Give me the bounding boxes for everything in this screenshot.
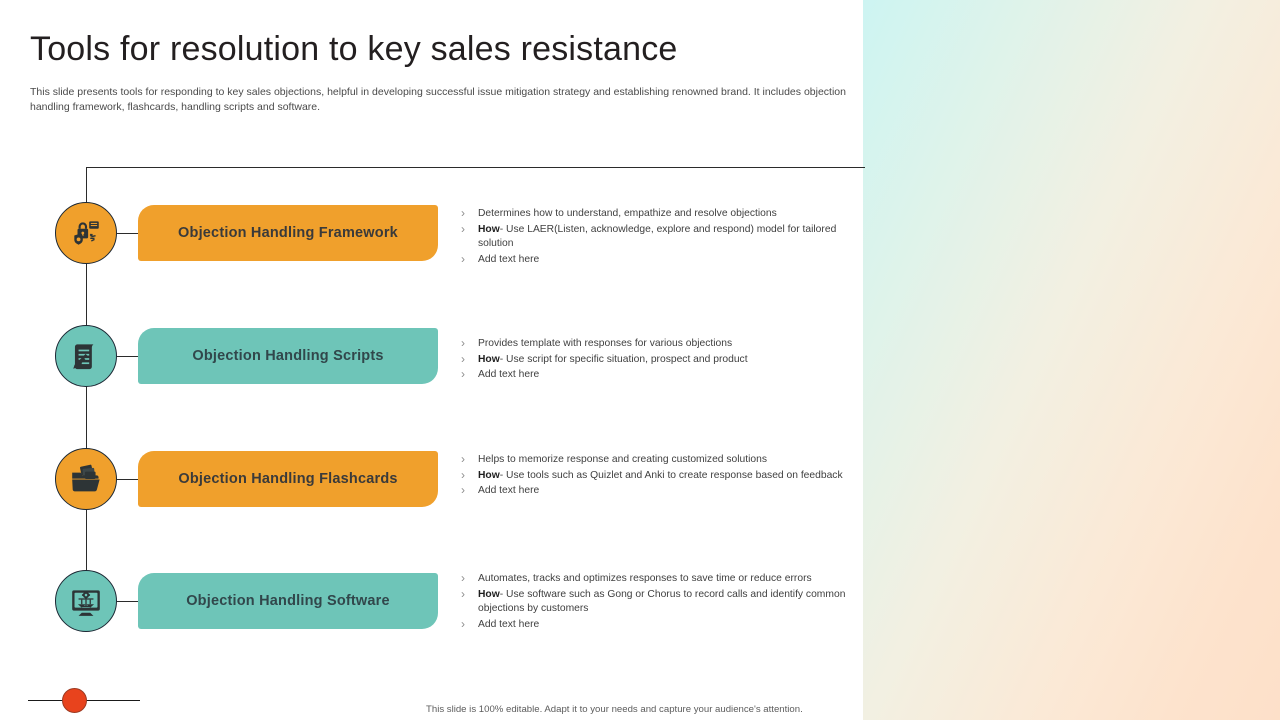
page-title: Tools for resolution to key sales resist…	[30, 30, 678, 69]
pill-objection-handling-scripts[interactable]: Objection Handling Scripts	[138, 328, 438, 384]
folder-cards-icon[interactable]	[55, 448, 117, 510]
bullet-list: Provides template with responses for var…	[456, 337, 856, 384]
bullet-text: Add text here	[478, 254, 539, 265]
lock-shield-icon[interactable]	[55, 202, 117, 264]
slide-canvas: Tools for resolution to key sales resist…	[0, 0, 1280, 720]
list-item: Add text here	[456, 368, 856, 383]
script-pen-icon[interactable]	[55, 325, 117, 387]
bullet-list: Determines how to understand, empathize …	[456, 207, 856, 268]
list-item: Add text here	[456, 253, 856, 268]
bullet-list: Helps to memorize response and creating …	[456, 453, 856, 500]
list-item: Determines how to understand, empathize …	[456, 207, 856, 222]
pill-label: Objection Handling Software	[186, 593, 390, 609]
bullet-lead: How	[478, 470, 500, 481]
list-item: How- Use tools such as Quizlet and Anki …	[456, 469, 856, 484]
pill-label: Objection Handling Scripts	[192, 348, 383, 364]
bullet-lead: How	[478, 224, 500, 235]
monitor-gear-icon-glyph	[69, 584, 103, 618]
list-item: Provides template with responses for var…	[456, 337, 856, 352]
bullet-text: Provides template with responses for var…	[478, 338, 732, 349]
bullet-text: Add text here	[478, 369, 539, 380]
pill-label: Objection Handling Framework	[178, 225, 398, 241]
list-item: How- Use LAER(Listen, acknowledge, explo…	[456, 223, 856, 252]
list-item: How- Use software such as Gong or Chorus…	[456, 588, 856, 617]
bullet-text: Determines how to understand, empathize …	[478, 208, 777, 219]
monitor-gear-icon[interactable]	[55, 570, 117, 632]
bottom-accent-dot	[62, 688, 87, 713]
bullet-text: - Use software such as Gong or Chorus to…	[478, 589, 845, 615]
bullet-list: Automates, tracks and optimizes response…	[456, 572, 856, 633]
right-decorative-panel	[863, 0, 1280, 720]
folder-cards-icon-glyph	[69, 462, 103, 496]
list-item: Automates, tracks and optimizes response…	[456, 572, 856, 587]
pill-label: Objection Handling Flashcards	[178, 471, 397, 487]
list-item: Add text here	[456, 484, 856, 499]
bullet-text: - Use LAER(Listen, acknowledge, explore …	[478, 224, 836, 250]
lock-shield-icon-glyph	[69, 216, 103, 250]
pill-objection-handling-software[interactable]: Objection Handling Software	[138, 573, 438, 629]
bullet-lead: How	[478, 589, 500, 600]
bullet-text: Add text here	[478, 619, 539, 630]
pill-objection-handling-framework[interactable]: Objection Handling Framework	[138, 205, 438, 261]
bullet-text: Helps to memorize response and creating …	[478, 454, 767, 465]
bullet-text: Add text here	[478, 485, 539, 496]
list-item: Helps to memorize response and creating …	[456, 453, 856, 468]
connector-horizontal	[86, 167, 865, 168]
bullet-lead: How	[478, 354, 500, 365]
pill-objection-handling-flashcards[interactable]: Objection Handling Flashcards	[138, 451, 438, 507]
script-pen-icon-glyph	[69, 339, 103, 373]
bullet-text: Automates, tracks and optimizes response…	[478, 573, 812, 584]
bullet-text: - Use script for specific situation, pro…	[500, 354, 748, 365]
page-subtitle: This slide presents tools for responding…	[30, 85, 860, 115]
list-item: How- Use script for specific situation, …	[456, 353, 856, 368]
footer-note: This slide is 100% editable. Adapt it to…	[426, 704, 803, 715]
bullet-text: - Use tools such as Quizlet and Anki to …	[500, 470, 843, 481]
list-item: Add text here	[456, 618, 856, 633]
